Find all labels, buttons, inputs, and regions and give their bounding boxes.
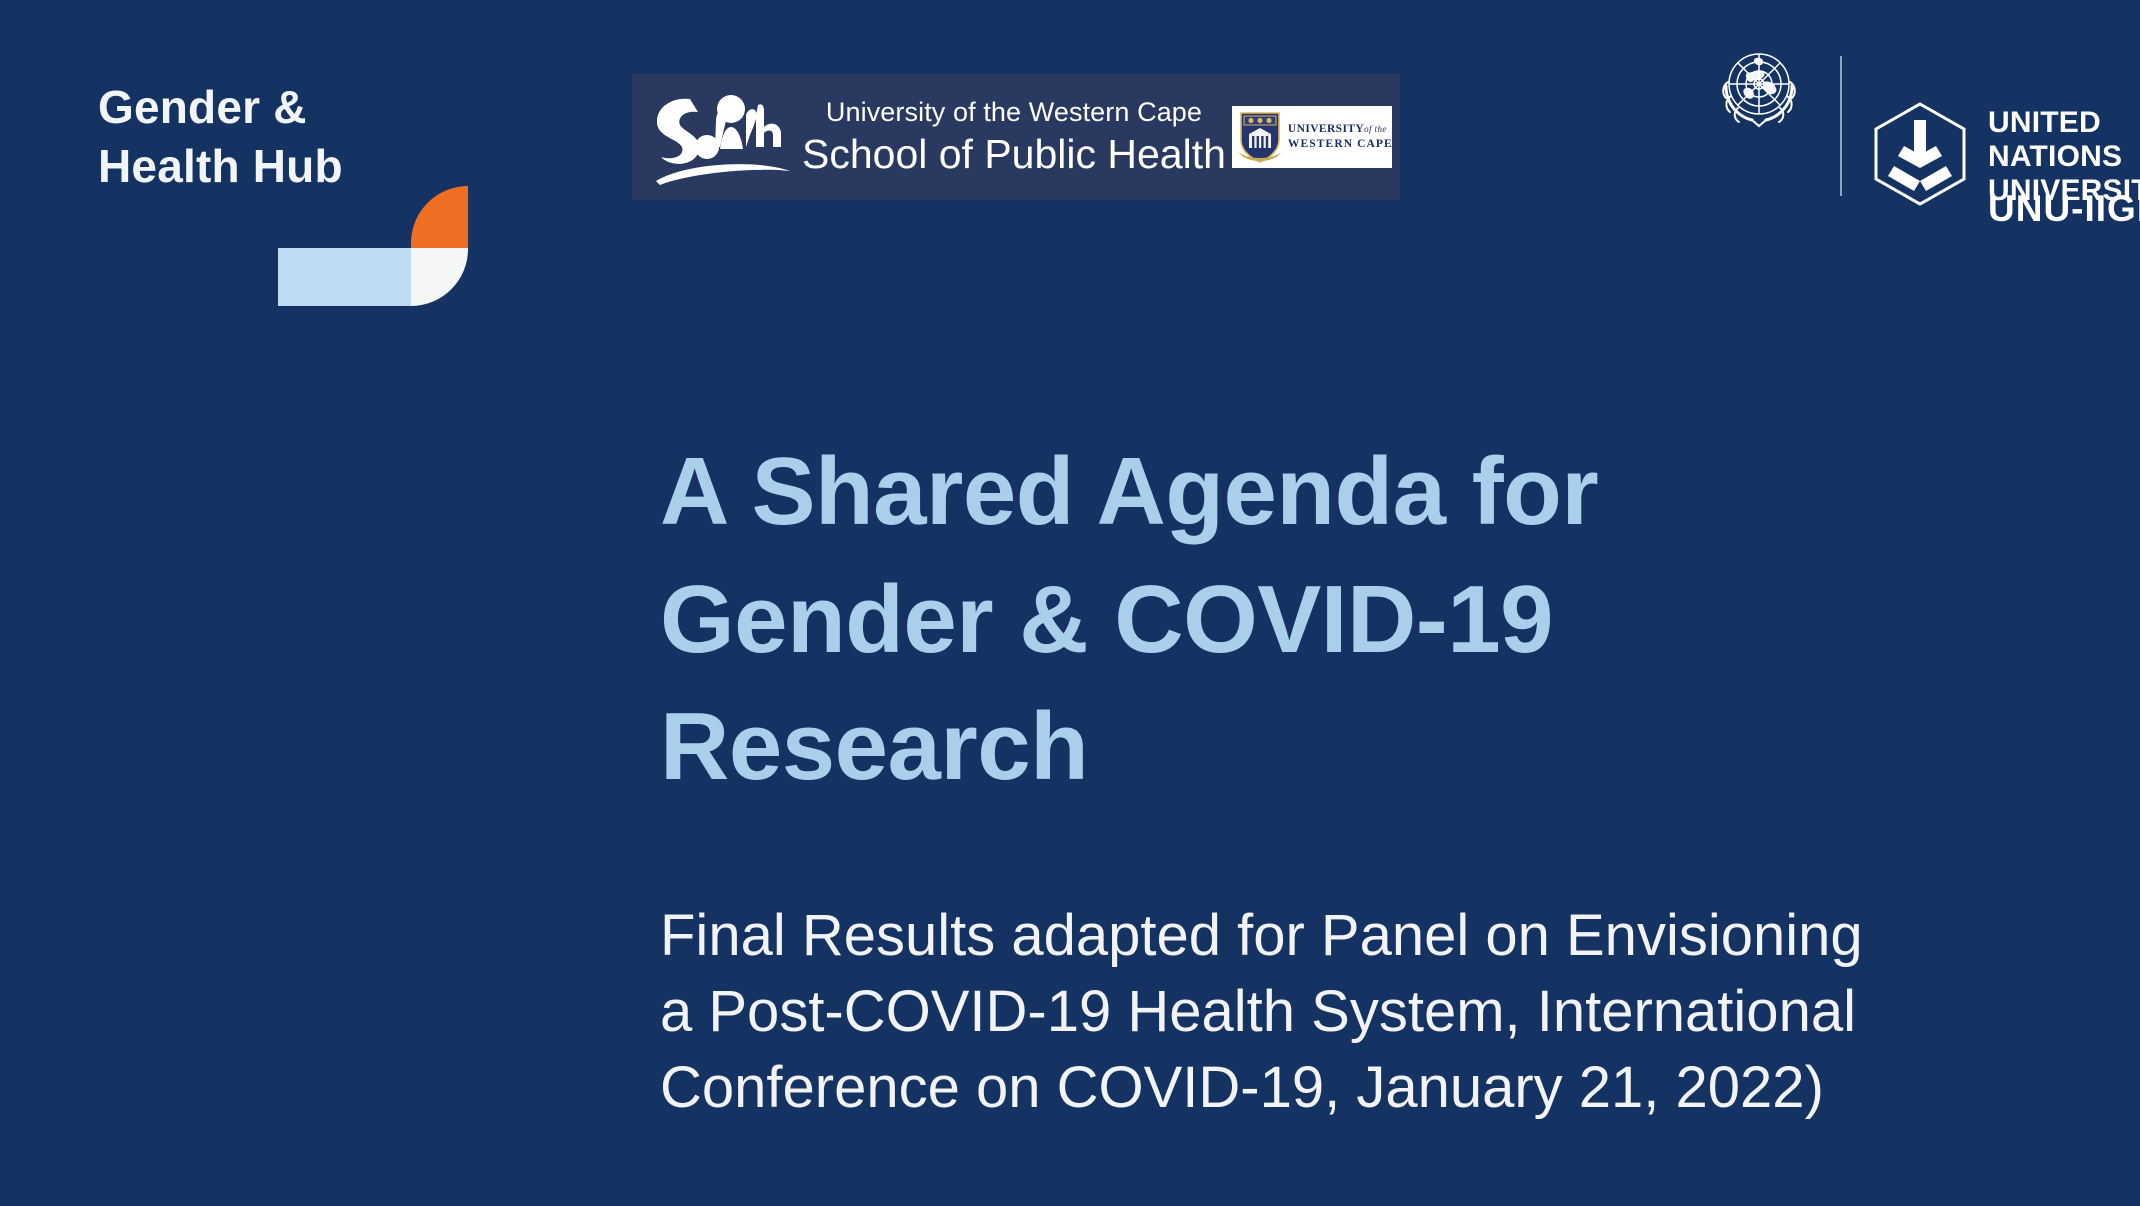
gender-health-hub-wordmark: Gender & Health Hub xyxy=(98,78,478,196)
slide-canvas: Gender & Health Hub xyxy=(0,0,2140,1206)
gender-health-hub-logo: Gender & Health Hub xyxy=(98,78,478,298)
united-nations-emblem-icon xyxy=(1706,38,1812,144)
uwc-school-name: School of Public Health xyxy=(802,130,1226,178)
uwc-university-name: University of the Western Cape xyxy=(802,96,1226,128)
logo-blue-bar xyxy=(278,248,411,306)
soph-logo-icon xyxy=(646,85,796,189)
uwc-crest-icon xyxy=(1237,110,1283,164)
crest-line1: UNIVERSITY xyxy=(1288,123,1364,135)
page-subtitle: Final Results adapted for Panel on Envis… xyxy=(660,898,2020,1126)
unu-hexagon-icon xyxy=(1864,98,1976,210)
logo-white-quarter xyxy=(411,248,468,306)
logo-orange-quarter xyxy=(411,186,468,248)
logo-divider xyxy=(1840,56,1842,196)
unu-iigh-text: UNU-IIGH xyxy=(1988,188,2140,230)
unu-iigh-logo: UNITED NATIONS UNIVERSITY UNU-IIGH xyxy=(1706,38,2106,218)
uwc-crest-box: UNIVERSITYof the WESTERN CAPE xyxy=(1232,106,1392,168)
crest-line2: WESTERN CAPE xyxy=(1288,137,1393,152)
uwc-banner-text: University of the Western Cape School of… xyxy=(796,96,1232,179)
gender-health-hub-mark-icon xyxy=(278,186,468,306)
uwc-crest-text: UNIVERSITYof the WESTERN CAPE xyxy=(1288,122,1393,151)
page-title: A Shared Agenda for Gender & COVID-19 Re… xyxy=(660,428,1760,811)
uwc-soph-banner: University of the Western Cape School of… xyxy=(632,74,1400,200)
crest-line1-italic: of the xyxy=(1364,124,1387,134)
